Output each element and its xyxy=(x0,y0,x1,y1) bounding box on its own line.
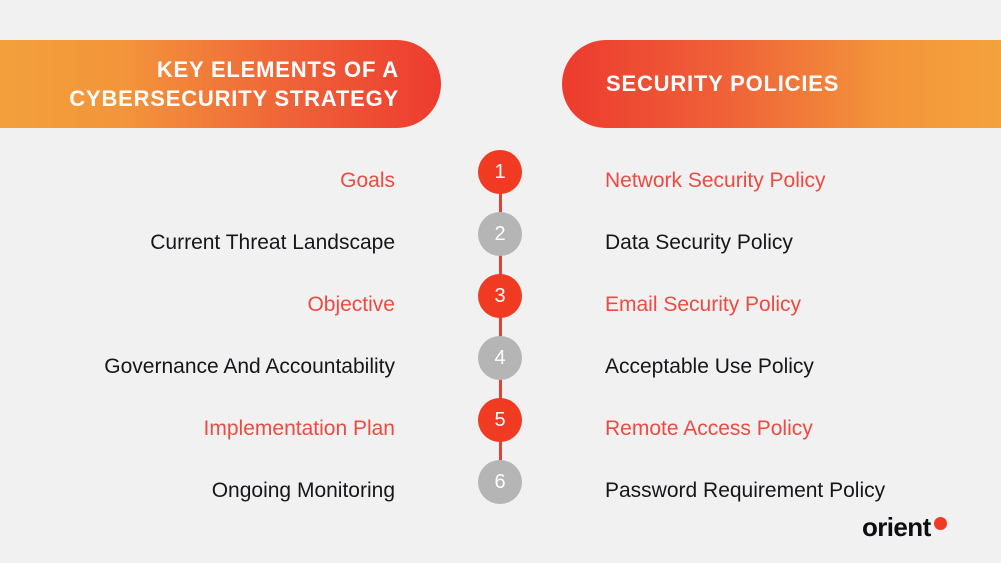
strategy-element-label: Objective xyxy=(0,292,395,317)
strategy-element-label: Goals xyxy=(0,168,395,193)
timeline-step-marker[interactable]: 1 xyxy=(478,150,522,194)
header-title-left: KEY ELEMENTS OF A CYBERSECURITY STRATEGY xyxy=(69,55,399,113)
header-banner-left: KEY ELEMENTS OF A CYBERSECURITY STRATEGY xyxy=(0,40,441,128)
infographic-canvas: KEY ELEMENTS OF A CYBERSECURITY STRATEGY… xyxy=(0,0,1001,563)
logo-wordmark: orient xyxy=(862,514,931,540)
timeline-row: Ongoing Monitoring6Password Requirement … xyxy=(0,460,1001,522)
timeline-row: Governance And Accountability4Acceptable… xyxy=(0,336,1001,398)
timeline-row: Current Threat Landscape2Data Security P… xyxy=(0,212,1001,274)
security-policy-label: Network Security Policy xyxy=(605,168,1001,193)
timeline-step-marker[interactable]: 3 xyxy=(478,274,522,318)
strategy-element-label: Implementation Plan xyxy=(0,416,395,441)
security-policy-label: Email Security Policy xyxy=(605,292,1001,317)
timeline-step-marker[interactable]: 5 xyxy=(478,398,522,442)
timeline-step-marker[interactable]: 4 xyxy=(478,336,522,380)
security-policy-label: Data Security Policy xyxy=(605,230,1001,255)
strategy-element-label: Current Threat Landscape xyxy=(0,230,395,255)
timeline-row: Objective3Email Security Policy xyxy=(0,274,1001,336)
timeline-row: Implementation Plan5Remote Access Policy xyxy=(0,398,1001,460)
timeline-step-marker[interactable]: 6 xyxy=(478,460,522,504)
timeline: Goals1Network Security PolicyCurrent Thr… xyxy=(0,150,1001,522)
brand-logo: orient xyxy=(862,514,947,540)
header-banner-right: SECURITY POLICIES xyxy=(562,40,1001,128)
security-policy-label: Password Requirement Policy xyxy=(605,478,1001,503)
strategy-element-label: Ongoing Monitoring xyxy=(0,478,395,503)
circle-dot-icon xyxy=(934,517,947,530)
security-policy-label: Acceptable Use Policy xyxy=(605,354,1001,379)
timeline-row: Goals1Network Security Policy xyxy=(0,150,1001,212)
header-title-right: SECURITY POLICIES xyxy=(606,69,839,98)
security-policy-label: Remote Access Policy xyxy=(605,416,1001,441)
timeline-rows: Goals1Network Security PolicyCurrent Thr… xyxy=(0,150,1001,522)
timeline-step-marker[interactable]: 2 xyxy=(478,212,522,256)
strategy-element-label: Governance And Accountability xyxy=(0,354,395,379)
